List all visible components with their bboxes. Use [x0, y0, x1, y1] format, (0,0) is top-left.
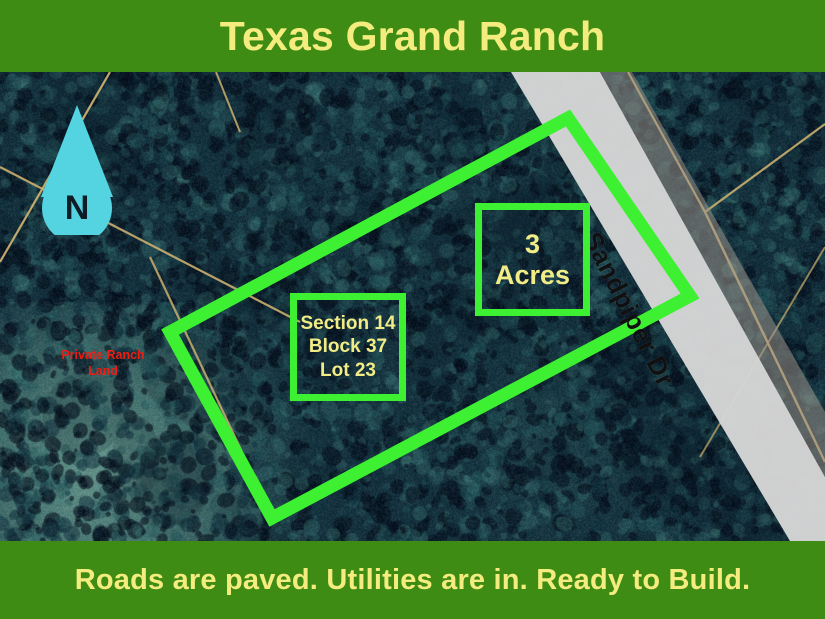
acreage-callout: 3 Acres [475, 203, 590, 316]
private-ranch-line-1: Private Ranch [43, 348, 163, 364]
parcel-polygon [170, 118, 690, 518]
tagline: Roads are paved. Utilities are in. Ready… [75, 566, 751, 595]
page-title: Texas Grand Ranch [220, 16, 605, 57]
legal-section: Section 14 [300, 313, 395, 334]
acreage-value: 3 [525, 229, 540, 259]
legal-lot: Lot 23 [320, 360, 376, 381]
legal-block: Block 37 [309, 336, 387, 357]
legal-description-callout: Section 14 Block 37 Lot 23 [290, 293, 406, 401]
bottom-banner: Roads are paved. Utilities are in. Ready… [0, 541, 825, 619]
private-ranch-land-label: Private Ranch Land [43, 348, 163, 379]
aerial-map[interactable]: Sandpiper Dr 3 Acres Section 14 Block 37… [0, 72, 825, 541]
north-arrow-icon: N [39, 105, 115, 235]
parcel-overlay [0, 72, 825, 541]
acreage-unit: Acres [495, 260, 570, 290]
top-banner: Texas Grand Ranch [0, 0, 825, 72]
private-ranch-line-2: Land [43, 364, 163, 380]
listing-image: Texas Grand Ranch [0, 0, 825, 619]
